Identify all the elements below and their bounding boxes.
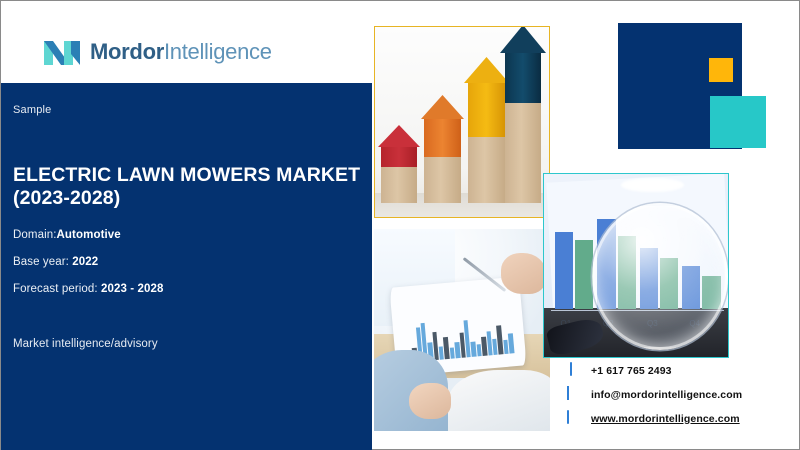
brand-wordmark: MordorIntelligence [90,39,272,65]
meta-label-forecast-period: Forecast period: [13,283,98,295]
monitor-icon [567,411,582,426]
meta-value-base-year: 2022 [72,256,98,268]
teal-swatch [710,96,766,148]
blocks-growth-photo [374,26,550,218]
magnifier-chart-photo: Q1 Q2 Q3 Q4 [543,173,729,358]
meta-value-forecast-period: 2023 - 2028 [101,283,164,295]
contact-email[interactable]: info@mordorintelligence.com [567,387,742,402]
contact-email-value: info@mordorintelligence.com [591,389,742,401]
tagline: Market intelligence/advisory [13,338,158,350]
amber-swatch [709,58,733,82]
brand-name-bold: Mordor [90,39,164,64]
meta-label-domain: Domain: [13,229,57,241]
mordor-m-logo-icon [43,33,81,71]
contact-phone-value: +1 617 765 2493 [591,365,672,377]
report-cover: MordorIntelligence Sample ELECTRIC LAWN … [0,0,800,450]
meta-row-domain: Domain:Automotive [13,229,353,241]
magnifying-glass-icon [592,203,728,349]
meta-row-forecast-period: Forecast period: 2023 - 2028 [13,283,353,295]
phone-icon [567,363,582,378]
meta-row-base-year: Base year: 2022 [13,256,353,268]
brand-logo[interactable]: MordorIntelligence [43,33,272,71]
page-title: ELECTRIC LAWN MOWERS MARKET (2023-2028) [13,164,363,210]
contact-website-value: www.mordorintelligence.com [591,413,740,425]
sample-label: Sample [13,104,52,116]
report-meta: Domain:Automotive Base year: 2022 Foreca… [13,229,353,310]
meta-label-base-year: Base year: [13,256,69,268]
contact-website[interactable]: www.mordorintelligence.com [567,411,742,426]
contact-phone[interactable]: +1 617 765 2493 [567,363,742,378]
contact-block: +1 617 765 2493 info@mordorintelligence.… [567,363,742,426]
header: MordorIntelligence [1,1,373,83]
envelope-icon [567,387,582,402]
brand-name-light: Intelligence [164,39,272,64]
analyst-chart-photo [374,229,550,431]
meta-value-domain: Automotive [57,229,121,241]
